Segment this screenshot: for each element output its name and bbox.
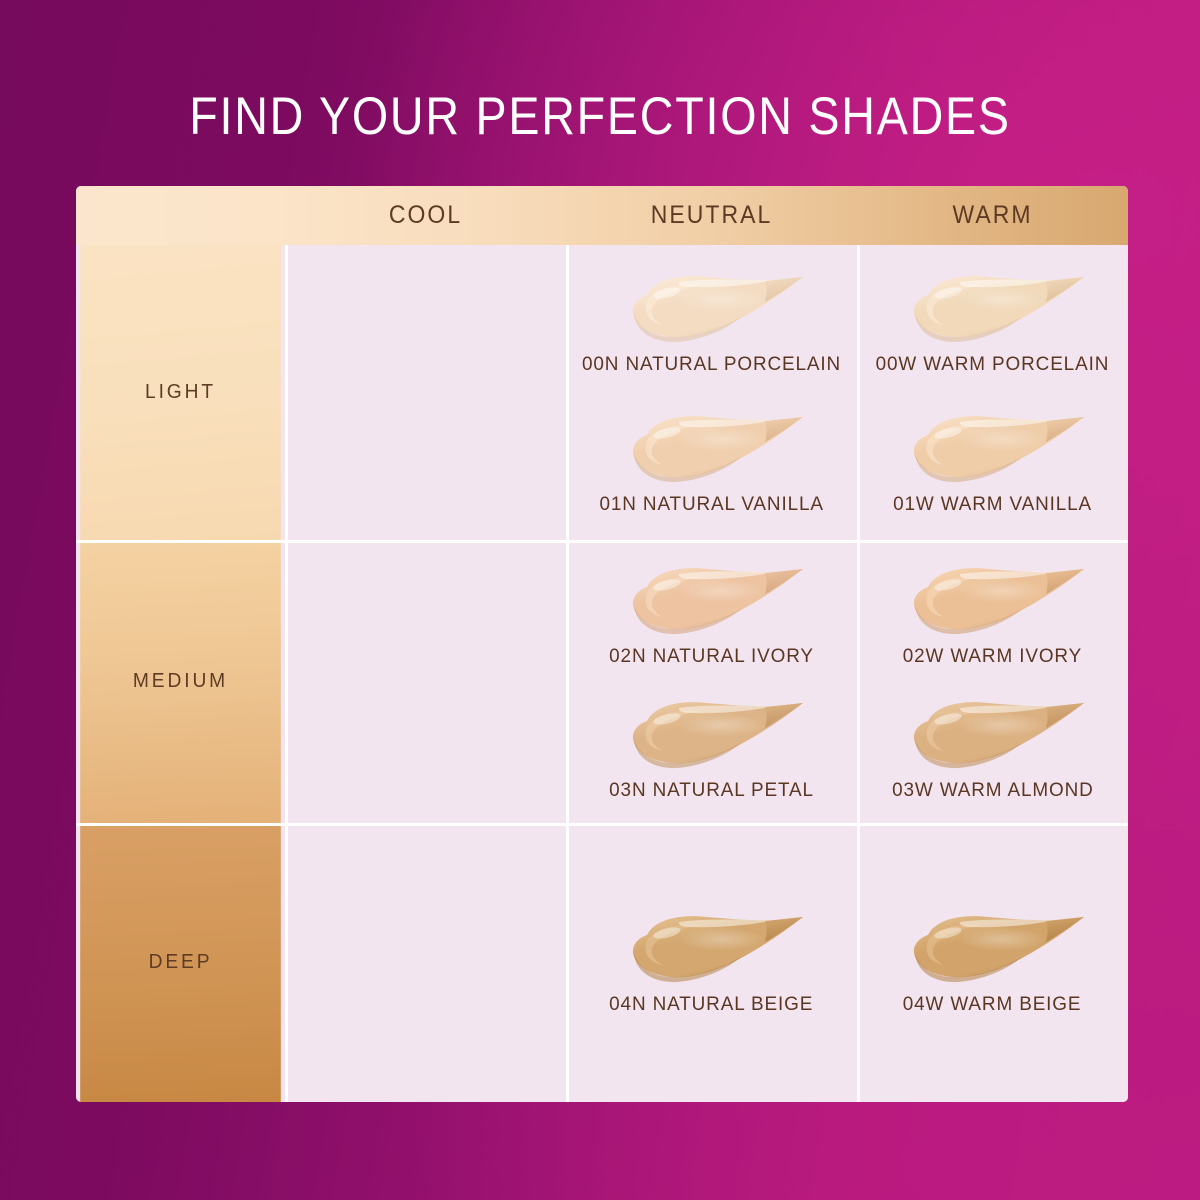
foundation-swatch-icon	[615, 909, 809, 987]
foundation-swatch-icon	[896, 409, 1090, 487]
shade-item[interactable]: 00N NATURAL PORCELAIN	[566, 257, 857, 389]
shade-group: 04W WARM BEIGE	[857, 823, 1128, 1102]
header-cell-warm[interactable]: WARM	[868, 201, 1117, 230]
shade-label: 00N NATURAL PORCELAIN	[582, 353, 841, 376]
shade-item[interactable]: 03N NATURAL PETAL	[566, 686, 857, 812]
cell-light-cool	[285, 245, 566, 540]
shade-label: 00W WARM PORCELAIN	[876, 353, 1110, 376]
shade-label: 02W WARM IVORY	[903, 645, 1082, 668]
shade-label: 01W WARM VANILLA	[893, 493, 1092, 516]
foundation-swatch-icon	[615, 561, 809, 639]
foundation-swatch-icon	[615, 269, 809, 347]
foundation-swatch-icon	[896, 269, 1090, 347]
shade-group: 04N NATURAL BEIGE	[566, 823, 857, 1102]
shade-label: 03W WARM ALMOND	[892, 779, 1094, 802]
shade-group: 00W WARM PORCELAIN 01W WAR	[857, 245, 1128, 540]
cell-light-neutral: 00N NATURAL PORCELAIN 01N	[566, 245, 857, 540]
shade-item[interactable]: 04N NATURAL BEIGE	[566, 909, 857, 1016]
shade-item[interactable]: 00W WARM PORCELAIN	[857, 257, 1128, 389]
tone-label-deep: DEEP	[149, 951, 213, 974]
cell-light-warm: 00W WARM PORCELAIN 01W WAR	[857, 245, 1128, 540]
chart-header-row: COOL NEUTRAL WARM	[76, 186, 1128, 245]
foundation-swatch-icon	[615, 409, 809, 487]
shade-item[interactable]: 02W WARM IVORY	[857, 552, 1128, 678]
cell-deep-cool	[285, 823, 566, 1102]
shade-item[interactable]: 04W WARM BEIGE	[857, 909, 1128, 1016]
shade-group: 02N NATURAL IVORY 03N NATU	[566, 540, 857, 823]
cell-deep-warm: 04W WARM BEIGE	[857, 823, 1128, 1102]
shade-item[interactable]: 02N NATURAL IVORY	[566, 552, 857, 678]
header-cell-neutral[interactable]: NEUTRAL	[578, 201, 846, 230]
page-title: FIND YOUR PERFECTION SHADES	[72, 86, 1128, 148]
cell-medium-warm: 02W WARM IVORY 03W WARM AL	[857, 540, 1128, 823]
shade-item[interactable]: 01N NATURAL VANILLA	[566, 397, 857, 529]
shade-chart: COOL NEUTRAL WARM LIGHT MEDIUM DEEP	[76, 186, 1128, 1102]
shade-item[interactable]: 03W WARM ALMOND	[857, 686, 1128, 812]
shade-label: 04W WARM BEIGE	[903, 993, 1082, 1016]
tone-cell-medium: MEDIUM	[80, 540, 281, 823]
cell-medium-neutral: 02N NATURAL IVORY 03N NATU	[566, 540, 857, 823]
tone-cell-light: LIGHT	[80, 245, 281, 540]
foundation-swatch-icon	[615, 695, 809, 773]
foundation-swatch-icon	[896, 561, 1090, 639]
shade-item[interactable]: 01W WARM VANILLA	[857, 397, 1128, 529]
cell-medium-cool	[285, 540, 566, 823]
shade-group: 00N NATURAL PORCELAIN 01N	[566, 245, 857, 540]
shade-group: 02W WARM IVORY 03W WARM AL	[857, 540, 1128, 823]
foundation-swatch-icon	[896, 695, 1090, 773]
shade-label: 02N NATURAL IVORY	[609, 645, 814, 668]
cell-deep-neutral: 04N NATURAL BEIGE	[566, 823, 857, 1102]
tone-label-light: LIGHT	[145, 381, 216, 404]
shade-label: 03N NATURAL PETAL	[609, 779, 814, 802]
shade-label: 01N NATURAL VANILLA	[599, 493, 823, 516]
shade-label: 04N NATURAL BEIGE	[609, 993, 813, 1016]
header-cell-cool[interactable]: COOL	[296, 201, 555, 230]
foundation-swatch-icon	[896, 909, 1090, 987]
tone-label-medium: MEDIUM	[133, 670, 228, 693]
tone-cell-deep: DEEP	[80, 823, 281, 1102]
